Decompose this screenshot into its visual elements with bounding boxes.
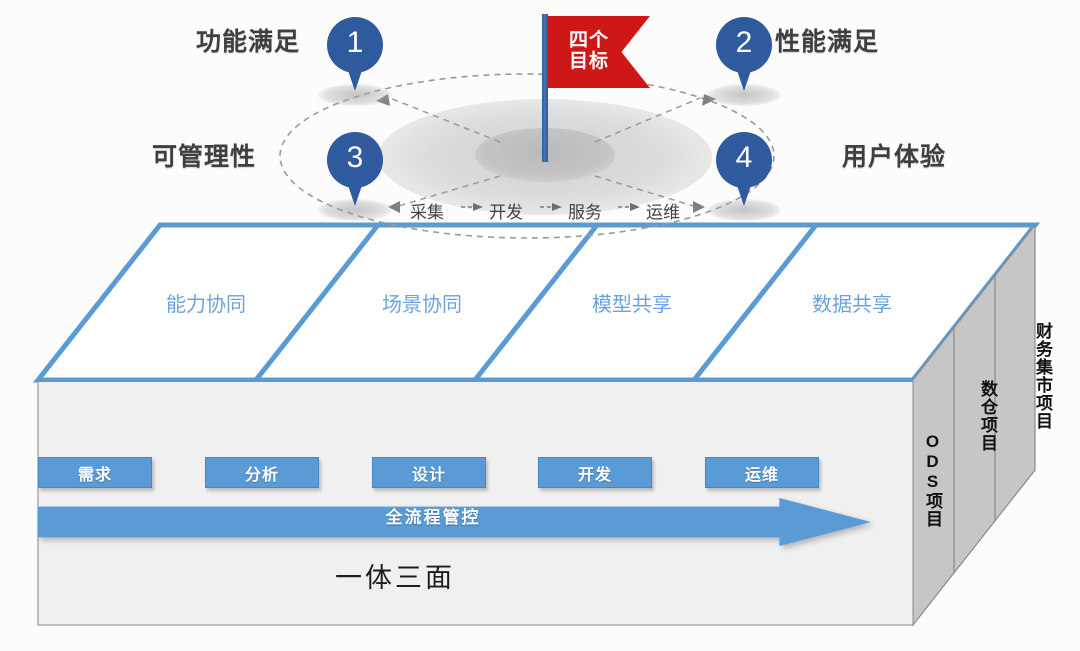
stage-button-requirements[interactable]: 需求 — [38, 457, 152, 488]
top-slab-label-scenario: 场景协同 — [382, 288, 462, 317]
stage-button-development[interactable]: 开发 — [538, 457, 652, 488]
flag-label-line2: 目标 — [569, 52, 609, 73]
flow-step-collect: 采集 — [410, 198, 444, 223]
full-process-arrow-label: 全流程管控 — [38, 503, 828, 527]
flag-label: 四个 目标 — [553, 20, 625, 84]
pin-number: 3 — [327, 132, 383, 184]
pin-number: 2 — [716, 17, 772, 69]
goal-pin-2[interactable]: 2 — [716, 17, 772, 95]
goal-pin-1[interactable]: 1 — [327, 17, 383, 95]
stage-button-analysis[interactable]: 分析 — [205, 457, 319, 488]
orbit-graphics — [0, 0, 1080, 651]
top-slab-label-capability: 能力协同 — [166, 288, 246, 317]
side-panel-label-finance-mart: 财务集市项目 — [1030, 322, 1055, 430]
top-slab-label-model: 模型共享 — [592, 288, 672, 317]
goal-pin-3[interactable]: 3 — [327, 132, 383, 210]
pin-number: 1 — [327, 17, 383, 69]
stage-button-design[interactable]: 设计 — [372, 457, 486, 488]
goal-label-3: 可管理性 — [152, 137, 256, 173]
pin-number: 4 — [716, 132, 772, 184]
flow-step-service: 服务 — [568, 198, 602, 223]
stage-button-operations[interactable]: 运维 — [705, 457, 819, 488]
diagram-canvas: 1 2 3 4 功能满足 性能满足 可管理性 用户体验 四个 目标 采集 开发 … — [0, 0, 1080, 651]
flag-label-line1: 四个 — [569, 31, 609, 52]
goal-label-2: 性能满足 — [775, 22, 879, 58]
top-slab-label-data: 数据共享 — [812, 288, 892, 317]
side-panel-label-warehouse: 数仓项目 — [975, 380, 1000, 452]
flag-pole — [542, 14, 548, 162]
goal-label-1: 功能满足 — [196, 22, 300, 58]
goal-pin-4[interactable]: 4 — [716, 132, 772, 210]
front-face-caption: 一体三面 — [0, 556, 790, 595]
flow-step-develop: 开发 — [489, 198, 523, 223]
goal-label-4: 用户体验 — [842, 137, 946, 173]
side-panel-label-ods: ODS项目 — [920, 432, 945, 528]
flow-step-ops: 运维 — [646, 198, 680, 223]
connector-arrow — [693, 201, 705, 213]
